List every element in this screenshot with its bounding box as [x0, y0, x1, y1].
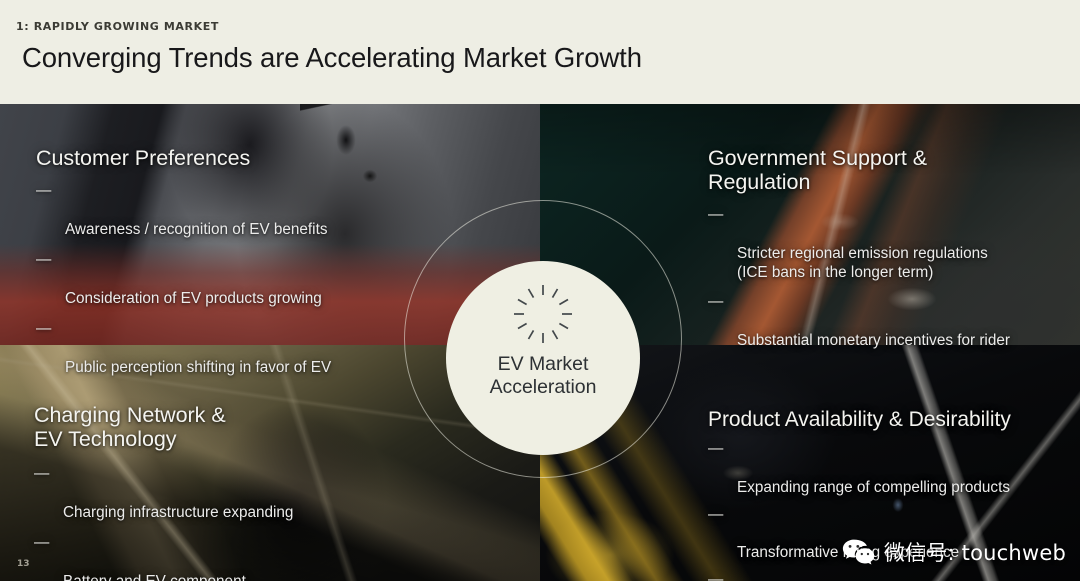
em-dash-marker: — [34, 464, 49, 483]
em-dash-marker: — [708, 205, 723, 224]
quadrant-bullet-list: — Charging infrastructure expanding — Ba… [34, 464, 454, 581]
list-item: — Battery and EV component performance u… [34, 533, 454, 581]
em-dash-marker: — [708, 570, 723, 581]
list-item-label: Awareness / recognition of EV benefits [65, 221, 327, 238]
list-item: — Stricter regional emission regulations… [708, 205, 1080, 283]
em-dash-marker: — [36, 181, 51, 200]
list-item-label: Public perception shifting in favor of E… [65, 359, 331, 376]
em-dash-marker: — [708, 505, 723, 524]
quadrant-bullet-list: — Stricter regional emission regulations… [708, 205, 1080, 351]
list-item: — Public perception shifting in favor of… [36, 319, 456, 377]
quadrant-heading: Product Availability & Desirability [708, 408, 1080, 431]
quadrant-heading: Government Support & Regulation [708, 147, 1080, 195]
em-dash-marker: — [34, 533, 49, 552]
list-item-label: Expanding range of compelling products [737, 479, 1010, 496]
center-hub: EV Market Acceleration [446, 261, 640, 455]
em-dash-marker: — [36, 319, 51, 338]
list-item-label: Substantial monetary incentives for ride… [737, 332, 1010, 349]
quadrant-bullet-list: — Awareness / recognition of EV benefits… [36, 181, 456, 378]
list-item-label: Consideration of EV products growing [65, 290, 322, 307]
hub-label: EV Market Acceleration [490, 353, 597, 399]
quadrant-heading: Charging Network & EV Technology [34, 404, 454, 452]
list-item: — Substantial monetary incentives for ri… [708, 292, 1080, 350]
section-kicker: 1: RAPIDLY GROWING MARKET [16, 20, 219, 33]
list-item: — Awareness / recognition of EV benefits [36, 181, 456, 239]
em-dash-marker: — [708, 439, 723, 458]
list-item: — Expanding range of compelling products [708, 439, 1080, 497]
list-item: — Charging infrastructure expanding [34, 464, 454, 522]
quadrant-text-government-support: Government Support & Regulation — Strict… [708, 147, 1080, 361]
sunburst-radiating-icon [512, 283, 574, 345]
list-item: — Consideration of EV products growing [36, 250, 456, 308]
watermark-text: 微信号: touchweb [884, 537, 1066, 567]
list-item: — Integrated software solutions [708, 570, 1080, 581]
page-number: 13 [17, 559, 30, 569]
list-item-label: Stricter regional emission regulations (… [737, 245, 988, 281]
quadrant-text-customer-preferences: Customer Preferences — Awareness / recog… [36, 147, 456, 389]
em-dash-marker: — [36, 250, 51, 269]
slide-header: 1: RAPIDLY GROWING MARKET Converging Tre… [0, 0, 1080, 104]
wechat-icon [842, 538, 875, 566]
slide-canvas: 1: RAPIDLY GROWING MARKET Converging Tre… [0, 0, 1080, 581]
list-item-label: Battery and EV component performance up,… [63, 573, 277, 581]
em-dash-marker: — [708, 292, 723, 311]
quadrant-text-charging-network: Charging Network & EV Technology — Charg… [34, 404, 454, 581]
list-item-label: Charging infrastructure expanding [63, 504, 293, 521]
watermark: 微信号: touchweb [842, 537, 1066, 567]
page-title: Converging Trends are Accelerating Marke… [22, 42, 642, 74]
quadrant-heading: Customer Preferences [36, 147, 456, 171]
